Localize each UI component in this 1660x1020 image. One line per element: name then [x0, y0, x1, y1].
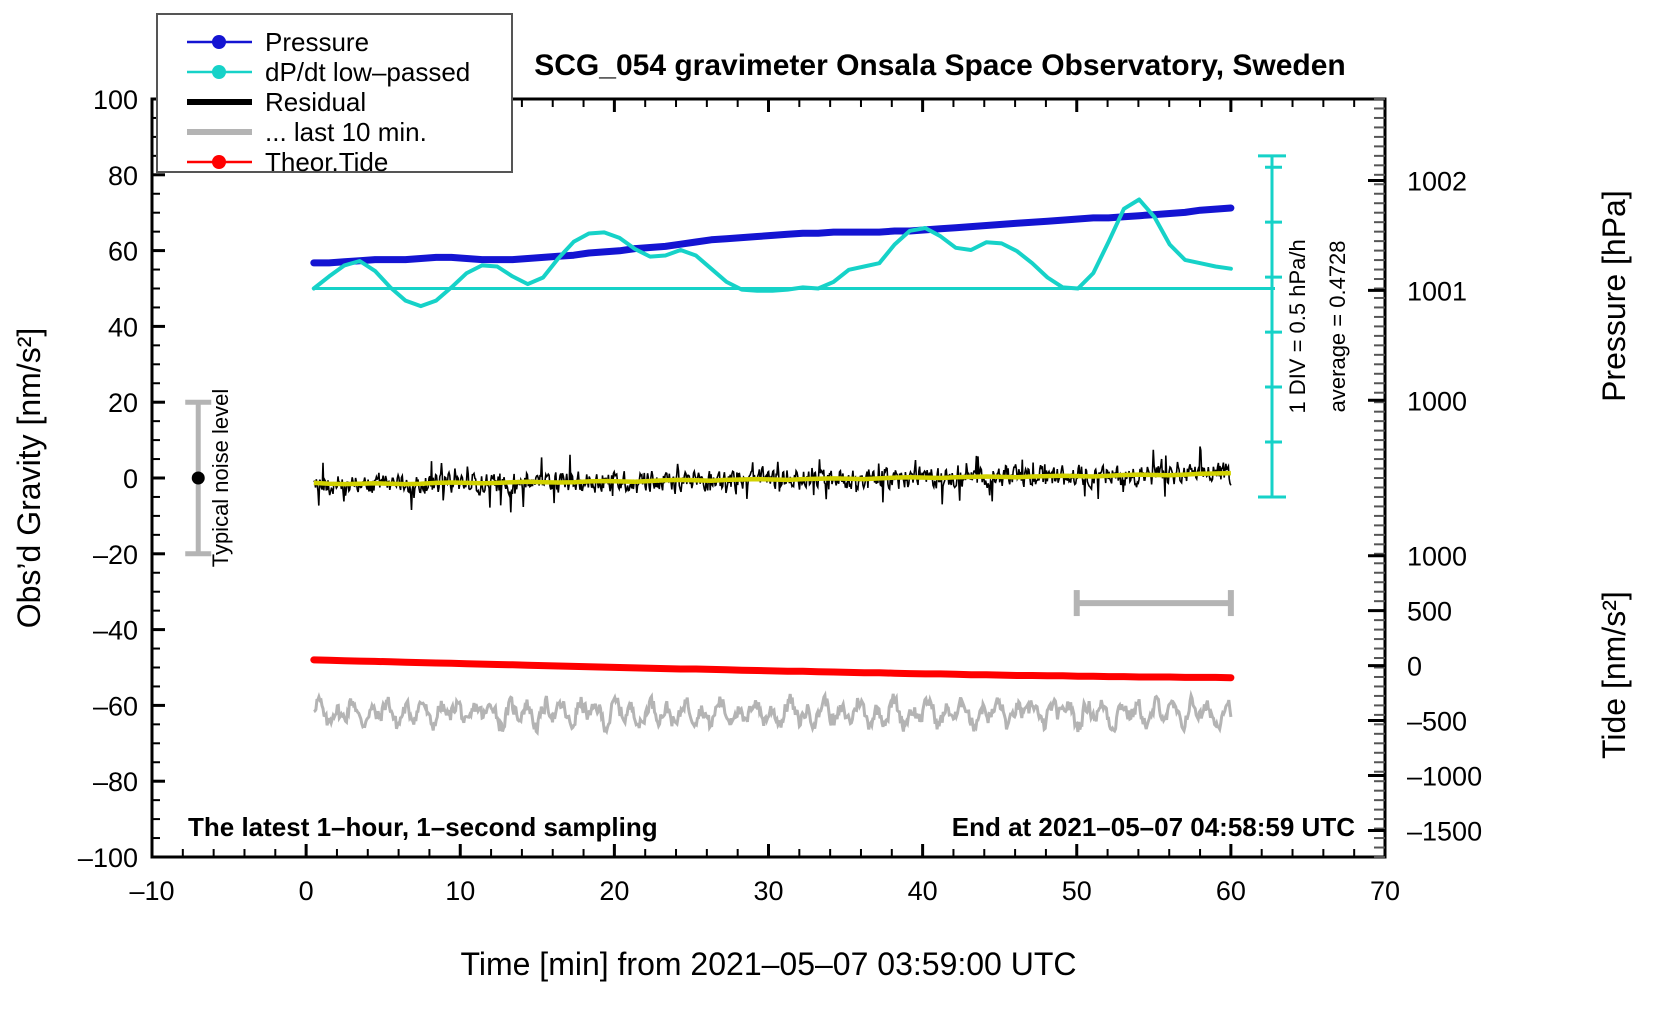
x-tick-label: 60	[1216, 876, 1246, 906]
x-axis-title: Time [min] from 2021–05–07 03:59:00 UTC	[460, 946, 1076, 982]
noise-level-annotation: Typical noise level	[208, 389, 233, 568]
y-tick-label: 20	[108, 388, 138, 418]
theor-tide-trace	[314, 660, 1231, 678]
y-tick-label: –80	[93, 767, 138, 797]
dpdt-average-annotation: average = 0.4728	[1325, 240, 1350, 412]
legend-marker-1	[212, 65, 226, 79]
legend-label-1: dP/dt low–passed	[265, 57, 470, 87]
x-tick-label: 30	[753, 876, 783, 906]
tide-axis-title: Tide [nm/s²]	[1596, 591, 1632, 759]
tide-tick-label: 0	[1407, 652, 1422, 682]
tide-tick-label: –1500	[1407, 816, 1482, 846]
y-tick-label: –40	[93, 616, 138, 646]
pressure-axis-title: Pressure [hPa]	[1596, 190, 1632, 402]
y-tick-label: –20	[93, 540, 138, 570]
gravimeter-chart: –10010203040506070Time [min] from 2021–0…	[0, 0, 1660, 1020]
y-axis-title: Obs’d Gravity [nm/s²]	[11, 328, 47, 629]
x-tick-label: 10	[445, 876, 475, 906]
y-tick-label: 0	[123, 464, 138, 494]
chart-title: SCG_054 gravimeter Onsala Space Observat…	[534, 49, 1346, 82]
y-tick-label: 40	[108, 312, 138, 342]
x-tick-label: 50	[1062, 876, 1092, 906]
y-tick-label: 60	[108, 237, 138, 267]
last10-trace	[314, 694, 1231, 733]
y-tick-label: –60	[93, 691, 138, 721]
x-tick-label: 70	[1370, 876, 1400, 906]
legend-marker-4	[212, 155, 226, 169]
tide-tick-label: –1000	[1407, 762, 1482, 792]
dpdt-scale-annotation: 1 DIV = 0.5 hPa/h	[1285, 239, 1310, 413]
x-tick-label: 40	[908, 876, 938, 906]
x-tick-label: –10	[129, 876, 174, 906]
latest-sampling-annotation: The latest 1–hour, 1–second sampling	[188, 812, 658, 842]
pressure-tick-label: 1001	[1407, 276, 1467, 306]
y-tick-label: 80	[108, 161, 138, 191]
pressure-tick-label: 1000	[1407, 386, 1467, 416]
noise-center-dot	[192, 472, 205, 485]
legend-marker-0	[212, 35, 226, 49]
tide-tick-label: 1000	[1407, 542, 1467, 572]
x-tick-label: 0	[299, 876, 314, 906]
tide-tick-label: 500	[1407, 597, 1452, 627]
y-tick-label: –100	[78, 843, 138, 873]
pressure-trace	[314, 208, 1231, 263]
plot-canvas: –10010203040506070Time [min] from 2021–0…	[0, 0, 1660, 1020]
end-time-annotation: End at 2021–05–07 04:58:59 UTC	[952, 812, 1355, 842]
pressure-tick-label: 1002	[1407, 166, 1467, 196]
legend-label-4: Theor.Tide	[265, 147, 388, 177]
y-tick-label: 100	[93, 85, 138, 115]
legend-label-3: ... last 10 min.	[265, 117, 427, 147]
x-tick-label: 20	[599, 876, 629, 906]
legend-label-2: Residual	[265, 87, 366, 117]
legend-label-0: Pressure	[265, 27, 369, 57]
tide-tick-label: –500	[1407, 707, 1467, 737]
